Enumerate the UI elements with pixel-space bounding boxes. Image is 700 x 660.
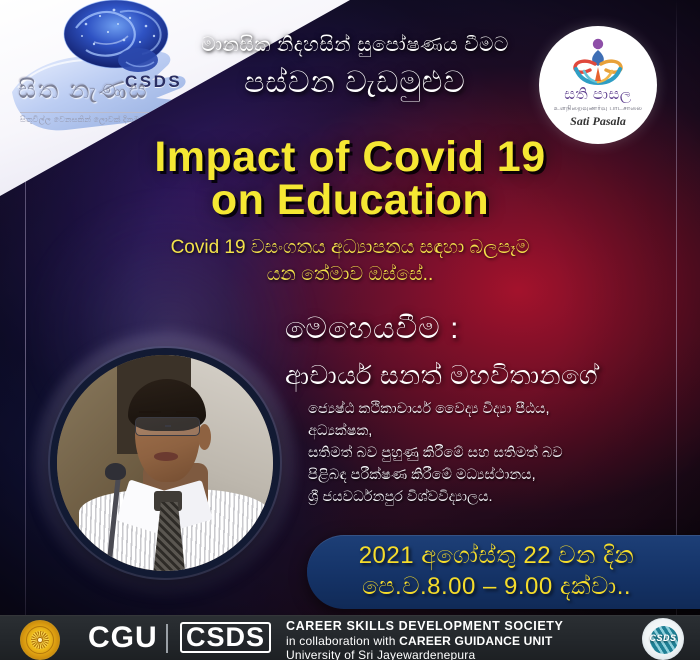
sati-pasala-mark-icon xyxy=(562,37,634,87)
poster-canvas: CSDS සිත නැණස සිතුවිල්ල වෙනසකින් ලොවක් ද… xyxy=(0,0,700,660)
footer-line-2-bold: CAREER GUIDANCE UNIT xyxy=(399,634,552,648)
main-title: Impact of Covid 19 on Education xyxy=(110,136,590,221)
photo-eyebrow-right xyxy=(176,411,198,413)
footer-line-2-prefix: in collaboration with xyxy=(286,634,399,648)
crest-hub xyxy=(37,637,43,643)
csds-badge-icon: CSDS xyxy=(642,618,684,660)
header-sinhala-line-1: මානසික නිදහසින් සුපෝෂණය වීමට xyxy=(160,34,550,57)
brand-sinhala-name: සිත නැණස xyxy=(18,76,178,105)
badge-label: CSDS xyxy=(643,633,683,643)
sati-pasala-logo: සති පාසල உளநிறைவுணர்வு பாடசாலை Sati Pasa… xyxy=(539,26,657,144)
event-date: 2021 අගෝස්තු 22 වන දින xyxy=(307,542,686,570)
footer-logo-divider xyxy=(166,624,168,653)
university-crest-icon xyxy=(20,620,60,660)
speaker-name: ආචාර්ය සනත් මහවිතානගේ xyxy=(285,360,690,392)
sati-logo-english: Sati Pasala xyxy=(539,114,657,129)
event-time: පෙ.ව.8.00 – 9.00 දක්වා.. xyxy=(307,573,686,601)
main-title-line-1: Impact of Covid 19 xyxy=(110,136,590,179)
credential-line: සතිමත් බව පුහුණු කිරීමේ සහ සතිමත් බව xyxy=(308,442,698,464)
footer-line-2: in collaboration with CAREER GUIDANCE UN… xyxy=(286,634,616,648)
photo-microphone-head xyxy=(105,463,127,480)
footer-line-1: CAREER SKILLS DEVELOPMENT SOCIETY xyxy=(286,619,616,634)
subtitle: Covid 19 වසංගතය අධ්‍යාපනය සඳහා බලපෑම යන … xyxy=(100,235,600,289)
header-sinhala-line-2: පස්වන වැඩමුළුව xyxy=(160,66,550,100)
credential-line: ජ්‍යෙෂ්ඨ කථිකාචාර්ය වෛද්‍ය විද්‍යා පීඨය, xyxy=(308,398,698,420)
credential-line: අධ්‍යක්ෂක, xyxy=(308,420,698,442)
photo-glasses-bridge xyxy=(165,425,171,427)
subtitle-line-1: Covid 19 වසංගතය අධ්‍යාපනය සඳහා බලපෑම xyxy=(100,235,600,262)
footer-cgu-logo: CGU xyxy=(88,621,158,655)
date-time-banner: 2021 අගෝස්තු 22 වන දින පෙ.ව.8.00 – 9.00 … xyxy=(307,535,700,609)
subtitle-line-2: යන තේමාව ඔස්සේ.. xyxy=(100,262,600,289)
moderator-label: මෙහෙයවීම : xyxy=(285,312,685,346)
footer-bar: CGU CSDS CAREER SKILLS DEVELOPMENT SOCIE… xyxy=(0,615,700,660)
footer-org-text: CAREER SKILLS DEVELOPMENT SOCIETY in col… xyxy=(286,619,616,660)
footer-csds-logo: CSDS xyxy=(180,622,271,653)
sati-logo-sinhala: සති පාසල xyxy=(539,86,657,103)
credential-line: ශ්‍රී ජයවර්ධනපුර විශ්වවිද්‍යාලය. xyxy=(308,486,698,508)
photo-eyebrow-left xyxy=(139,411,161,413)
main-title-line-2: on Education xyxy=(110,179,590,222)
sati-logo-tamil: உளநிறைவுணர்வு பாடசாலை xyxy=(539,105,657,113)
speaker-credentials: ජ්‍යෙෂ්ඨ කථිකාචාර්ය වෛද්‍ය විද්‍යා පීඨය,… xyxy=(308,398,698,508)
speaker-photo xyxy=(50,348,280,578)
photo-mouth xyxy=(154,452,178,461)
credential-line: පිළිබඳ පරීක්ෂණ කිරීමේ මධ්‍යස්ථානය, xyxy=(308,464,698,486)
footer-line-3: University of Sri Jayewardenepura xyxy=(286,648,616,660)
brand-divider xyxy=(20,112,168,113)
